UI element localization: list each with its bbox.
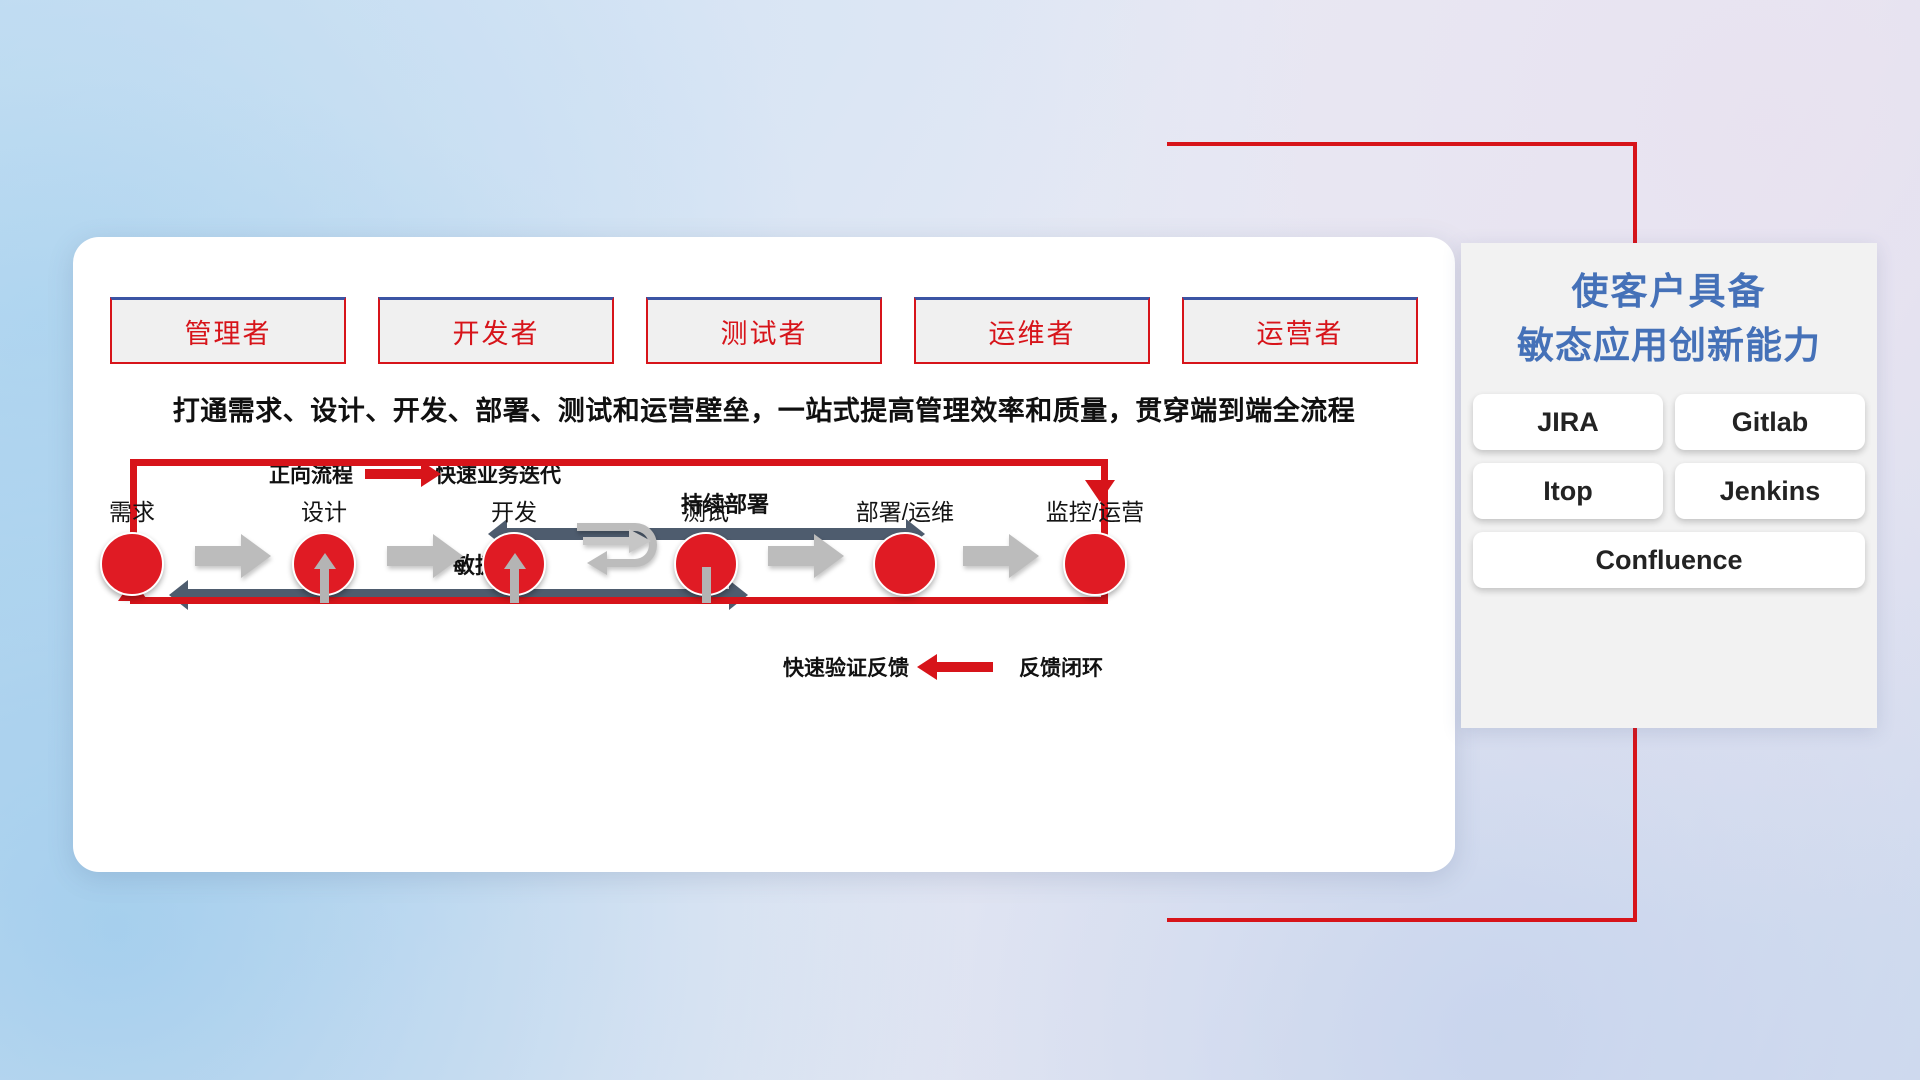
value-proposition-panel: 使客户具备 敏态应用创新能力 JIRA Gitlab Itop Jenkins … xyxy=(1461,243,1877,728)
tool-chip-jenkins[interactable]: Jenkins xyxy=(1675,463,1865,519)
stem-test xyxy=(702,567,711,603)
main-content-card: 管理者 开发者 测试者 运维者 运营者 打通需求、设计、开发、部署、测试和运营壁… xyxy=(73,237,1455,872)
tool-label: Gitlab xyxy=(1732,407,1809,438)
tool-label: Confluence xyxy=(1595,545,1742,576)
stem-dev xyxy=(510,567,519,603)
devops-pipeline: 需求 设计 开发 xyxy=(73,237,1455,872)
tool-label: Itop xyxy=(1543,476,1592,507)
flow-chevron-icon xyxy=(963,533,1039,579)
stage-dot xyxy=(1063,532,1127,596)
flow-chevron-icon xyxy=(768,533,844,579)
stage-label: 需求 xyxy=(67,493,197,527)
stage-label: 测试 xyxy=(641,493,771,527)
tool-chip-confluence[interactable]: Confluence xyxy=(1473,532,1865,588)
panel-heading-line2: 敏态应用创新能力 xyxy=(1461,319,1877,373)
stage-label: 监控/运营 xyxy=(1030,493,1160,527)
tool-label: Jenkins xyxy=(1720,476,1821,507)
panel-heading: 使客户具备 敏态应用创新能力 xyxy=(1461,243,1877,372)
stem-design xyxy=(320,567,329,603)
stem-dev-arrow-icon xyxy=(504,553,526,569)
stage-label: 设计 xyxy=(259,493,389,527)
stage-dot xyxy=(873,532,937,596)
stage-requirement[interactable]: 需求 xyxy=(67,493,197,596)
stage-dot xyxy=(100,532,164,596)
tool-chip-jira[interactable]: JIRA xyxy=(1473,394,1663,450)
stage-label: 开发 xyxy=(449,493,579,527)
stage-deployment-ops[interactable]: 部署/运维 xyxy=(840,493,970,596)
stem-design-arrow-icon xyxy=(314,553,336,569)
stage-label: 部署/运维 xyxy=(840,493,970,527)
panel-heading-line1: 使客户具备 xyxy=(1461,265,1877,319)
stage-monitor-operations[interactable]: 监控/运营 xyxy=(1030,493,1160,596)
slide-canvas: 管理者 开发者 测试者 运维者 运营者 打通需求、设计、开发、部署、测试和运营壁… xyxy=(0,0,1920,1080)
tool-chip-gitlab[interactable]: Gitlab xyxy=(1675,394,1865,450)
tool-chip-grid: JIRA Gitlab Itop Jenkins Confluence xyxy=(1473,394,1865,588)
tool-label: JIRA xyxy=(1537,407,1599,438)
tool-chip-itop[interactable]: Itop xyxy=(1473,463,1663,519)
